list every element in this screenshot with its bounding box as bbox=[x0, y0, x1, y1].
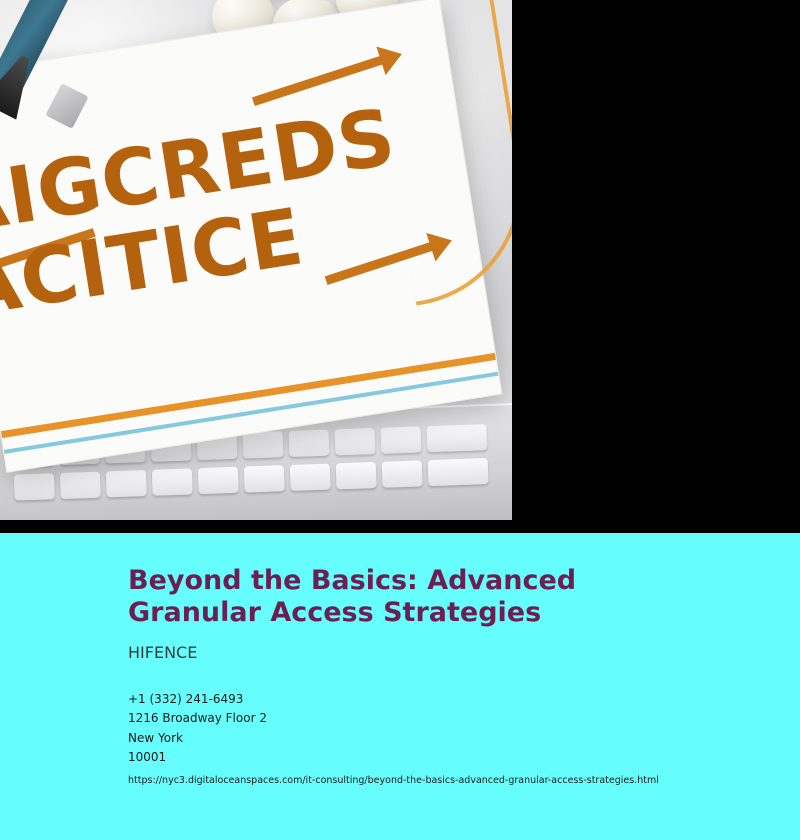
keyboard-key bbox=[382, 460, 423, 487]
whiteboard-card: AIGCREDS ACITICE bbox=[0, 0, 502, 473]
info-panel: Beyond the Basics: Advanced Granular Acc… bbox=[0, 533, 800, 840]
keyboard-key bbox=[243, 431, 284, 458]
keyboard-key bbox=[380, 426, 421, 453]
keyboard-key bbox=[106, 470, 147, 497]
contact-phone: +1 (332) 241-6493 bbox=[128, 690, 700, 709]
keyboard-key bbox=[335, 428, 376, 455]
contact-city: New York bbox=[128, 729, 700, 748]
keyboard-key bbox=[60, 472, 101, 499]
keyboard-key bbox=[290, 464, 331, 491]
keyboard-key bbox=[426, 424, 487, 452]
page-title: Beyond the Basics: Advanced Granular Acc… bbox=[128, 565, 700, 629]
keyboard-key bbox=[244, 465, 285, 492]
brand-name: HIFENCE bbox=[128, 643, 700, 662]
hero-image: AIGCREDS ACITICE bbox=[0, 0, 512, 520]
keyboard-key bbox=[198, 467, 239, 494]
keyboard-key bbox=[428, 458, 489, 486]
keyboard-key bbox=[14, 473, 55, 500]
keyboard-key bbox=[336, 462, 377, 489]
document-url[interactable]: https://nyc3.digitaloceanspaces.com/it-c… bbox=[128, 775, 700, 786]
keyboard-key bbox=[152, 468, 193, 495]
contact-block: +1 (332) 241-6493 1216 Broadway Floor 2 … bbox=[128, 690, 700, 768]
contact-address-line1: 1216 Broadway Floor 2 bbox=[128, 709, 700, 728]
keyboard-key bbox=[289, 430, 330, 457]
contact-zip: 10001 bbox=[128, 748, 700, 767]
info-panel-inner: Beyond the Basics: Advanced Granular Acc… bbox=[0, 533, 800, 786]
page-root: AIGCREDS ACITICE Beyond the Basics: Adva… bbox=[0, 0, 800, 840]
